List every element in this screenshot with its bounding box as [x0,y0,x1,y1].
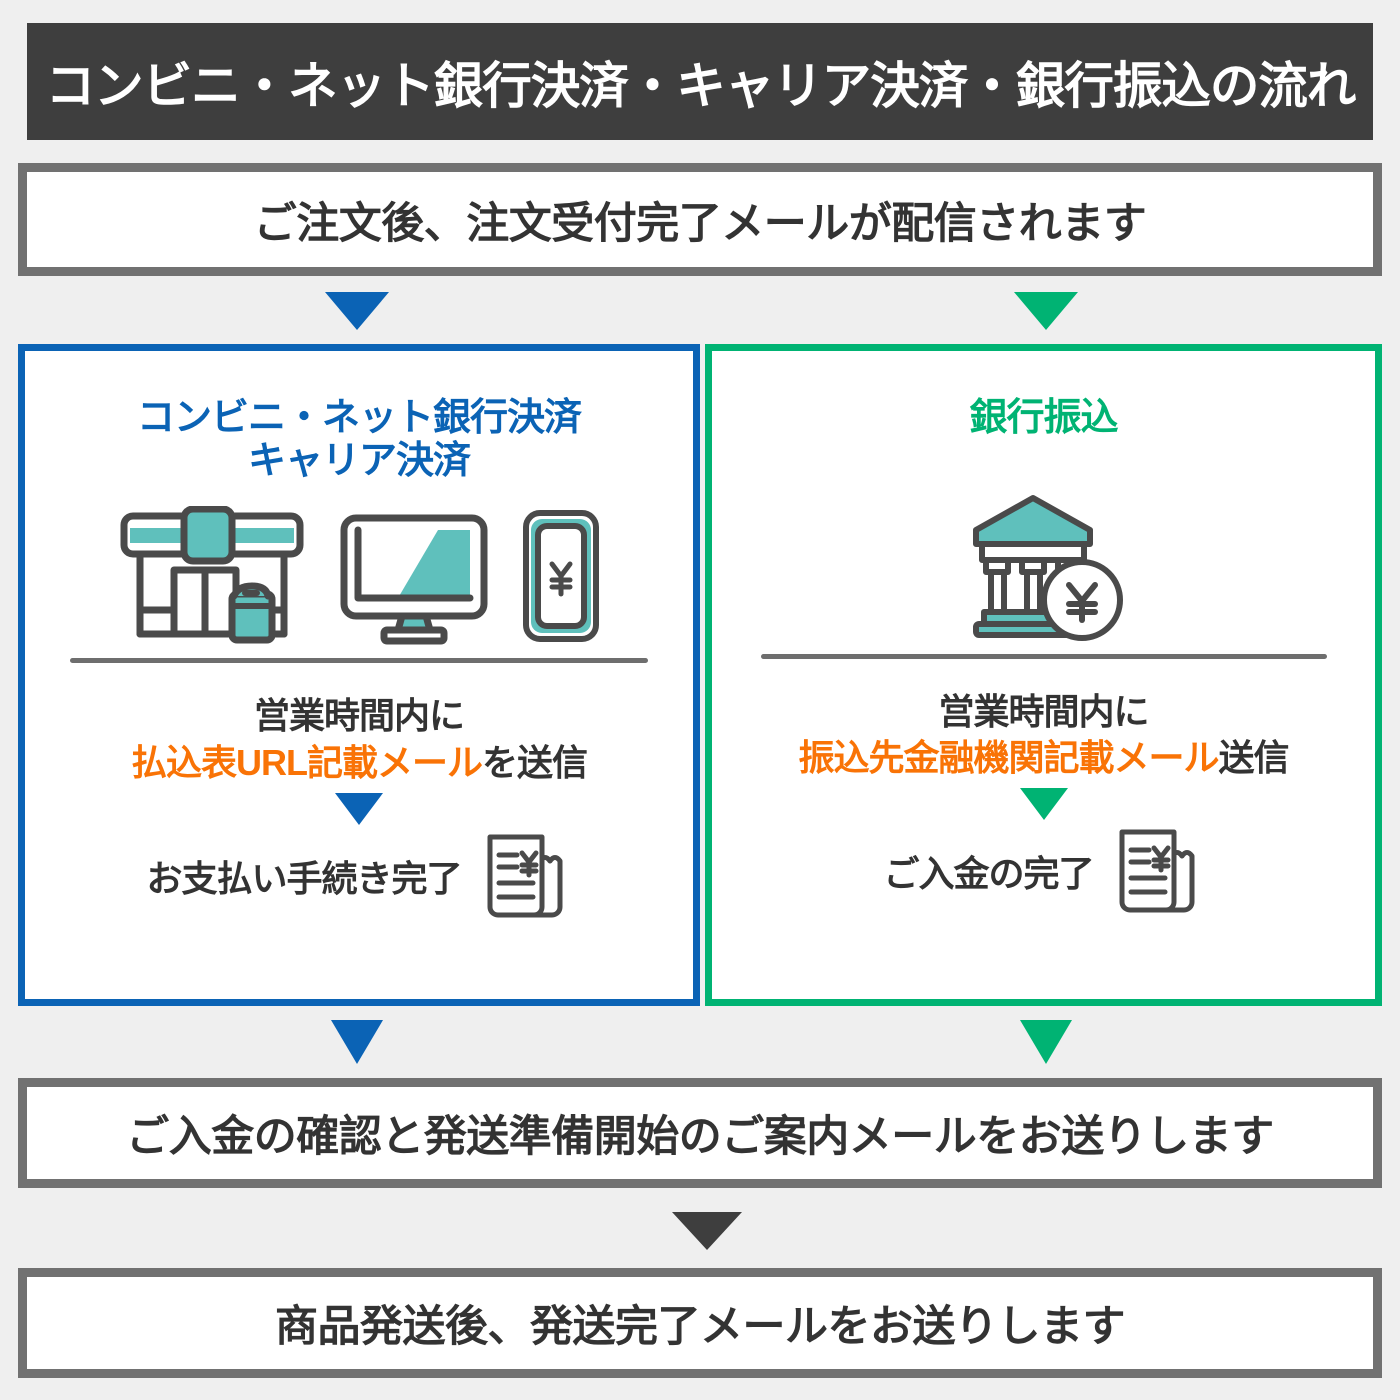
step-payment-confirm-email-label: ご入金の確認と発送準備開始のご案内メールをお送りします [126,1102,1274,1164]
step-payment-confirm-email-box: ご入金の確認と発送準備開始のご案内メールをお送りします [18,1078,1382,1188]
invoice-receipt-icon [476,829,572,923]
panel-conveni-icon-row [114,496,604,646]
panel-bank-note: 営業時間内に 振込先金融機関記載メール送信 [798,689,1288,783]
panel-bank-final-row: ご入金の完了 [883,824,1203,918]
panel-conveni-note-highlight: 払込表URL記載メール [131,742,482,783]
panel-conveni-divider [70,658,648,663]
diagram-title-banner: コンビニ・ネット銀行決済・キャリア決済・銀行振込の流れ [27,23,1373,140]
panel-bank-note-suffix: 送信 [1219,737,1289,778]
panel-conveni-note-line2: 払込表URL記載メールを送信 [131,740,587,787]
panel-conveni-final-row: お支払い手続き完了 [146,829,571,923]
down-arrow-green-to-confirm-box-icon [1020,1020,1072,1064]
panel-bank-final-label: ご入金の完了 [883,845,1093,897]
payment-flow-diagram: コンビニ・ネット銀行決済・キャリア決済・銀行振込の流れ ご注文後、注文受付完了メ… [0,0,1400,1400]
step-shipping-email-label: 商品発送後、発送完了メールをお送りします [275,1292,1125,1354]
panel-bank-note-line2: 振込先金融機関記載メール送信 [798,735,1288,782]
down-arrow-blue-to-confirm-box-icon [331,1020,383,1064]
down-arrow-green-to-bank-icon [1014,292,1078,330]
down-arrow-green-to-deposit-complete-icon [1020,788,1068,820]
panel-bank-divider [761,654,1327,659]
invoice-receipt-icon [1108,824,1204,918]
panel-conveni-note: 営業時間内に 払込表URL記載メールを送信 [131,693,587,787]
panel-conveni-payment: コンビニ・ネット銀行決済 キャリア決済 [18,344,700,1006]
panel-conveni-note-line1: 営業時間内に [131,693,587,740]
down-arrow-dark-to-shipping-box-icon [672,1212,742,1250]
panel-bank-icon-row [954,492,1134,642]
panel-bank-transfer: 銀行振込 [705,344,1382,1006]
panel-bank-note-line1: 営業時間内に [798,689,1288,736]
smartphone-yen-icon [518,506,604,646]
panel-bank-heading: 銀行振込 [969,397,1117,440]
down-arrow-blue-to-conveni-icon [325,292,389,330]
convenience-store-icon [114,506,310,646]
panel-conveni-heading: コンビニ・ネット銀行決済 キャリア決済 [137,397,581,482]
bank-building-yen-icon [954,490,1134,642]
panel-bank-note-highlight: 振込先金融機関記載メール [798,737,1218,778]
desktop-monitor-icon [336,506,492,646]
page-title: コンビニ・ネット銀行決済・キャリア決済・銀行振込の流れ [45,46,1355,118]
step-order-email-box: ご注文後、注文受付完了メールが配信されます [18,163,1382,276]
panel-conveni-note-suffix: を送信 [482,742,587,783]
down-arrow-blue-to-payment-complete-icon [335,793,383,825]
step-order-email-label: ご注文後、注文受付完了メールが配信されます [254,189,1147,251]
step-shipping-email-box: 商品発送後、発送完了メールをお送りします [18,1268,1382,1378]
panel-conveni-final-label: お支払い手続き完了 [146,850,461,902]
